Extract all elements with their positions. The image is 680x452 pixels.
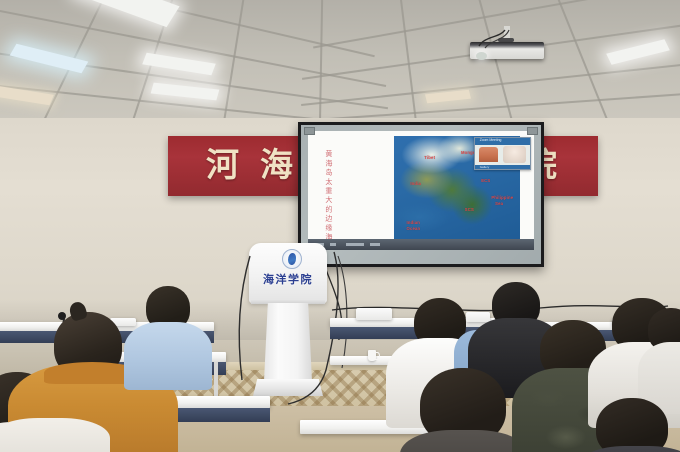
- presentation-slide: 黄海岛太重大的边缘海 Tibet Mongolia India ECS SCS …: [308, 131, 534, 250]
- video-participant-a: [479, 147, 499, 162]
- video-conference-window[interactable]: Zoom Meeting Gallery: [474, 137, 530, 170]
- video-window-footer-label: Gallery: [480, 165, 490, 169]
- desk-monitor: [356, 308, 392, 320]
- map-label: Ocean: [407, 226, 421, 231]
- ceiling-light-panel: [425, 90, 471, 103]
- slide-vertical-title: 黄海岛太重大的边缘海: [324, 150, 334, 242]
- slide-taskbar: [308, 239, 534, 250]
- ceiling: [0, 0, 680, 128]
- ceiling-light-panel: [142, 53, 216, 75]
- video-window-body: [475, 145, 529, 165]
- screen-surface: 黄海岛太重大的边缘海 Tibet Mongolia India ECS SCS …: [301, 125, 541, 264]
- map-label: ECS: [481, 178, 490, 183]
- desk-monitor: [466, 312, 490, 322]
- video-window-title: Zoom Meeting: [480, 138, 502, 142]
- map-label: India: [410, 181, 421, 186]
- video-participant-b: [503, 146, 527, 163]
- mug-handle: [375, 352, 380, 360]
- map-label: Indian: [407, 220, 421, 225]
- screen-mount-clip: [304, 127, 315, 135]
- ceiling-light-panel: [151, 83, 220, 101]
- attendee-body: [124, 322, 212, 390]
- projection-screen: 黄海岛太重大的边缘海 Tibet Mongolia India ECS SCS …: [298, 122, 544, 267]
- map-label: Tibet: [424, 155, 435, 160]
- ceiling-light-panel: [606, 39, 670, 65]
- projector-cable: [455, 28, 525, 58]
- attendee-body: [0, 418, 110, 452]
- banner-char: 河: [206, 142, 239, 188]
- lecture-hall-photo: 河 海 院 黄海岛太重大的边缘海 Tibet Mongolia India EC…: [0, 0, 680, 452]
- map-label: Sea: [495, 201, 503, 206]
- attendee-head: [596, 398, 668, 452]
- ceiling-light-panel: [10, 44, 89, 74]
- map-label: SCS: [465, 207, 474, 212]
- screen-mount-clip: [527, 127, 538, 135]
- banner-char: 海: [260, 142, 293, 188]
